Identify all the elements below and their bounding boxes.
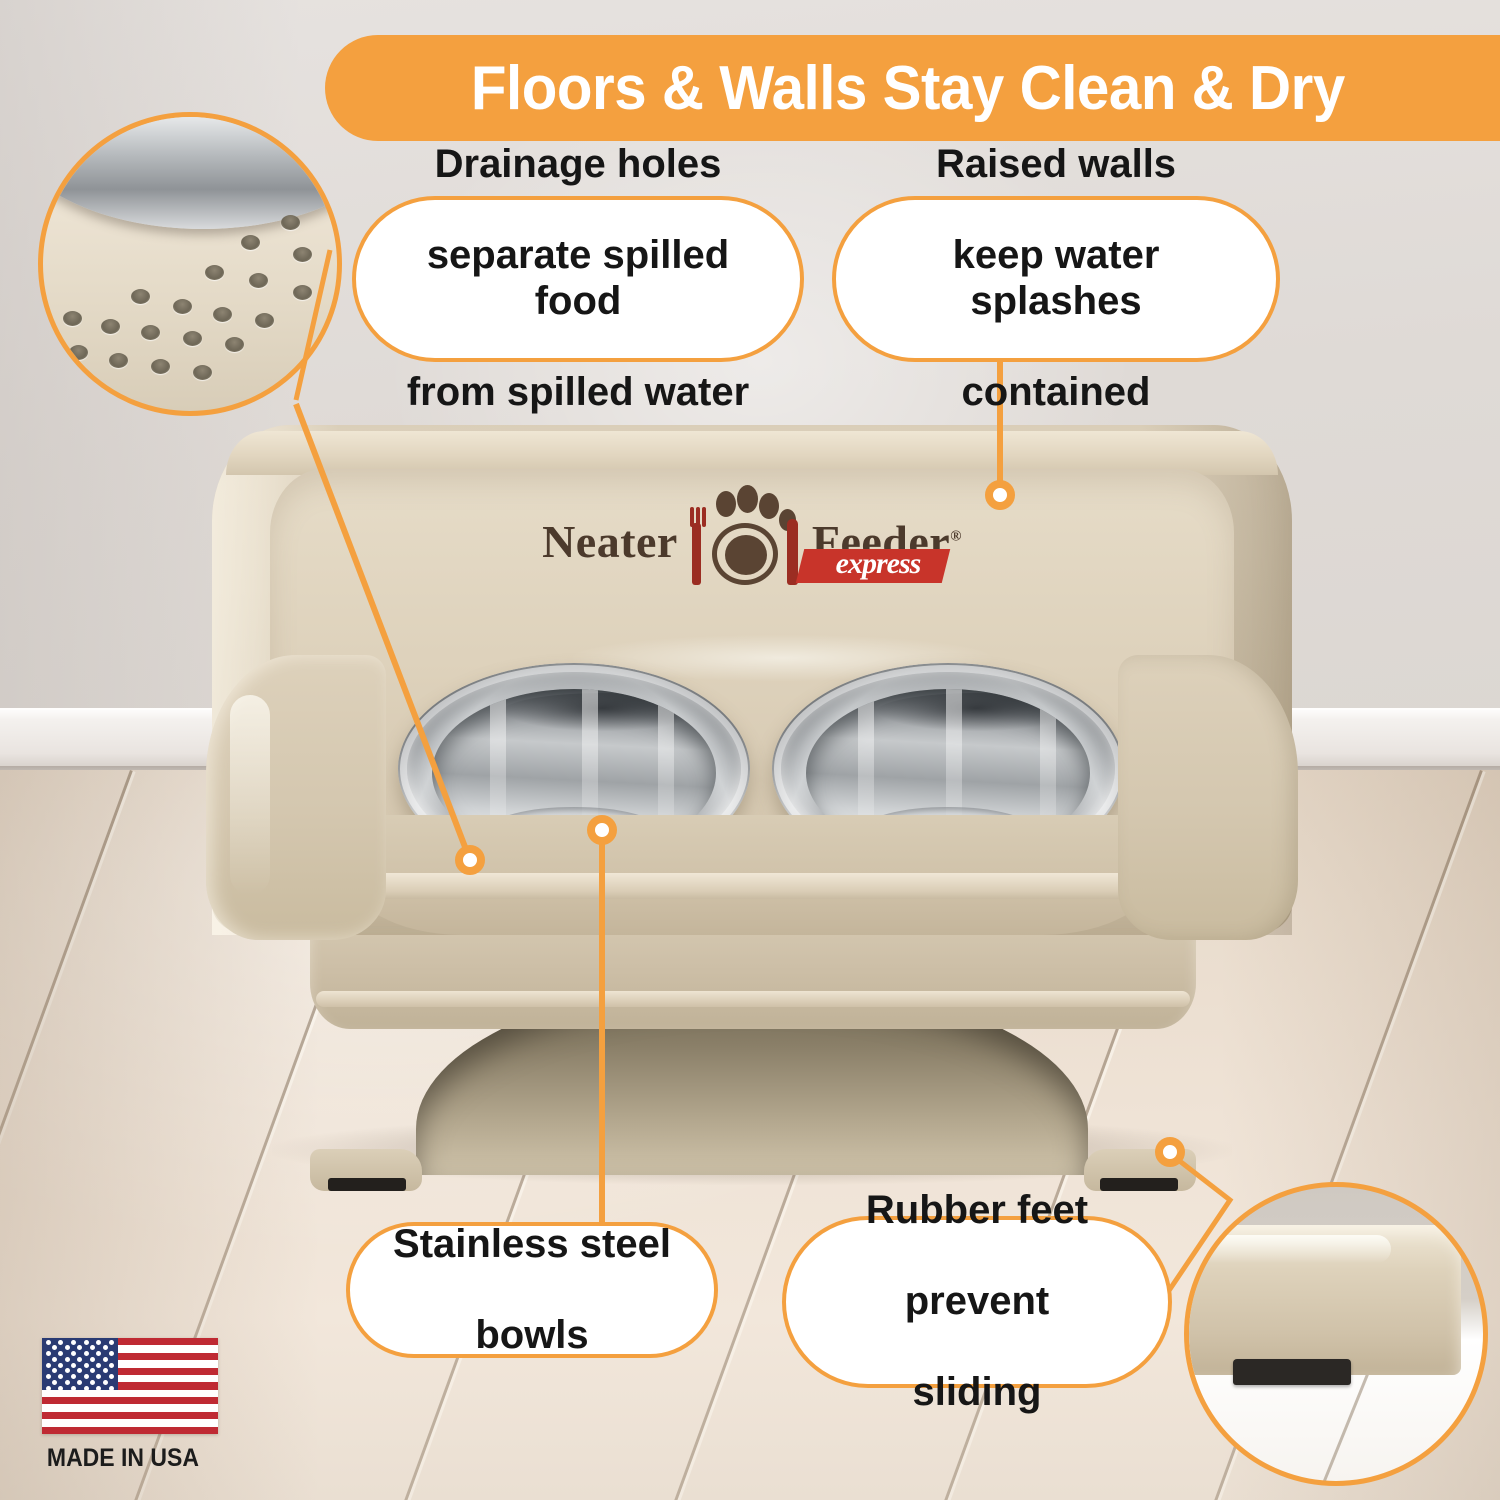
flag-star	[96, 1351, 101, 1356]
flag-star	[46, 1363, 51, 1368]
flag-star	[96, 1374, 101, 1379]
callout-raised-walls-text: Raised walls keep water splashes contain…	[836, 142, 1276, 416]
callout-line: Raised walls	[852, 142, 1260, 188]
flag-star	[65, 1380, 70, 1385]
flag-star	[77, 1380, 82, 1385]
flag-star	[109, 1374, 114, 1379]
flag-star	[84, 1340, 89, 1345]
flag-star	[84, 1374, 89, 1379]
flag-star	[58, 1386, 63, 1391]
callout-drainage-text: Drainage holes separate spilled food fro…	[356, 142, 800, 416]
callout-line: sliding	[850, 1370, 1104, 1416]
flag-star	[84, 1351, 89, 1356]
flag-star	[52, 1368, 57, 1373]
flag-star	[52, 1345, 57, 1350]
callout-line: separate spilled food	[372, 233, 784, 324]
flag-star	[65, 1357, 70, 1362]
flag-star	[90, 1380, 95, 1385]
callout-line: contained	[852, 370, 1260, 416]
us-flag-icon	[42, 1338, 218, 1434]
callout-rubber-feet: Rubber feet prevent sliding	[782, 1216, 1172, 1388]
callout-line: Rubber feet	[850, 1188, 1104, 1234]
flag-star	[77, 1357, 82, 1362]
callout-raised-walls: Raised walls keep water splashes contain…	[832, 196, 1280, 362]
flag-star	[65, 1368, 70, 1373]
flag-star	[46, 1386, 51, 1391]
callout-line: prevent	[850, 1279, 1104, 1325]
flag-star	[90, 1357, 95, 1362]
flag-star	[46, 1351, 51, 1356]
flag-star	[71, 1363, 76, 1368]
leader-dot-raised-walls	[985, 480, 1015, 510]
flag-star	[58, 1340, 63, 1345]
callout-line: Stainless steel	[377, 1222, 687, 1268]
flag-star	[96, 1386, 101, 1391]
callout-stainless-bowls-text: Stainless steel bowls	[361, 1222, 703, 1359]
flag-star	[90, 1368, 95, 1373]
flag-star	[84, 1363, 89, 1368]
callout-line: from spilled water	[372, 370, 784, 416]
callout-stainless-bowls: Stainless steel bowls	[346, 1222, 718, 1358]
made-in-usa-label: MADE IN USA	[42, 1444, 204, 1473]
made-in-usa-badge: MADE IN USA	[42, 1338, 218, 1470]
flag-star	[103, 1368, 108, 1373]
flag-star	[71, 1340, 76, 1345]
flag-star	[77, 1368, 82, 1373]
callout-line: bowls	[377, 1313, 687, 1359]
callout-line: Drainage holes	[372, 142, 784, 188]
leader-dot-rubber-feet	[1155, 1137, 1185, 1167]
flag-star	[77, 1345, 82, 1350]
flag-star	[58, 1351, 63, 1356]
flag-star	[71, 1351, 76, 1356]
flag-star	[90, 1345, 95, 1350]
flag-star	[96, 1340, 101, 1345]
flag-star	[71, 1386, 76, 1391]
flag-star	[58, 1374, 63, 1379]
callout-line: keep water splashes	[852, 233, 1260, 324]
leader-dot-drainage	[455, 845, 485, 875]
flag-star	[52, 1380, 57, 1385]
flag-star	[65, 1345, 70, 1350]
flag-star	[103, 1380, 108, 1385]
leader-inset-drainage	[296, 250, 330, 400]
leader-rubber-feet	[1168, 1152, 1230, 1292]
flag-star	[58, 1363, 63, 1368]
flag-star	[103, 1357, 108, 1362]
flag-star	[109, 1340, 114, 1345]
callout-rubber-feet-text: Rubber feet prevent sliding	[834, 1188, 1120, 1416]
flag-star	[71, 1374, 76, 1379]
flag-star	[52, 1357, 57, 1362]
leader-drainage	[296, 404, 470, 860]
product-infographic: Neater Feeder® express	[0, 0, 1500, 1500]
flag-star	[103, 1345, 108, 1350]
flag-canton	[42, 1338, 118, 1390]
flag-star	[109, 1363, 114, 1368]
callout-drainage-holes: Drainage holes separate spilled food fro…	[352, 196, 804, 362]
flag-star	[84, 1386, 89, 1391]
flag-star	[46, 1340, 51, 1345]
flag-star	[96, 1363, 101, 1368]
leader-dot-stainless-bowls	[587, 815, 617, 845]
flag-star	[109, 1386, 114, 1391]
flag-star	[109, 1351, 114, 1356]
flag-star	[46, 1374, 51, 1379]
